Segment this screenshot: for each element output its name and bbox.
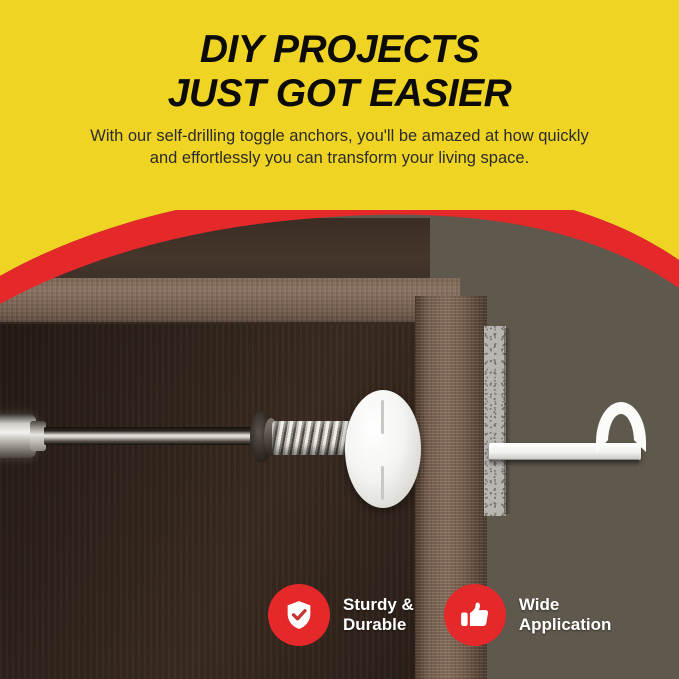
anchor-disc-slot-bottom xyxy=(381,466,384,500)
shelf-wood-grain xyxy=(0,278,460,326)
badge-wide-application: Wide Application xyxy=(444,584,612,646)
feature-badges: Sturdy & Durable Wide Application xyxy=(0,565,679,665)
subheadline: With our self-drilling toggle anchors, y… xyxy=(30,125,650,169)
product-feature-poster: DIY PROJECTS JUST GOT EASIER With our se… xyxy=(0,0,679,679)
badge-label-line-1: Sturdy & xyxy=(343,595,414,615)
badge-label: Wide Application xyxy=(519,595,612,635)
badge-icon-circle xyxy=(444,584,506,646)
headline-line-1: DIY PROJECTS xyxy=(200,28,479,71)
badge-label-line-2: Application xyxy=(519,615,612,635)
page-title: DIY PROJECTS JUST GOT EASIER xyxy=(0,0,679,113)
headline-line-2: JUST GOT EASIER xyxy=(0,74,679,113)
header-block: DIY PROJECTS JUST GOT EASIER With our se… xyxy=(0,0,679,210)
grey-drywall-board xyxy=(484,326,506,516)
wood-shelf-rail xyxy=(0,278,460,326)
badge-sturdy-durable: Sturdy & Durable xyxy=(268,584,414,646)
anchor-disc-slot-top xyxy=(381,400,384,434)
subheadline-line-2: and effortlessly you can transform your … xyxy=(30,147,650,169)
badge-icon-circle xyxy=(268,584,330,646)
badge-label-line-1: Wide xyxy=(519,595,612,615)
thumbs-up-icon xyxy=(458,598,492,632)
screwdriver-shaft xyxy=(44,427,259,445)
subheadline-line-1: With our self-drilling toggle anchors, y… xyxy=(30,125,650,147)
drywall-speckle-texture xyxy=(484,326,506,516)
drywall-shadow xyxy=(504,328,511,514)
shield-check-icon xyxy=(282,598,316,632)
badge-label: Sturdy & Durable xyxy=(343,595,414,635)
badge-label-line-2: Durable xyxy=(343,615,414,635)
cabinet-interior xyxy=(0,218,430,283)
toggle-arm-shadow xyxy=(489,459,639,466)
